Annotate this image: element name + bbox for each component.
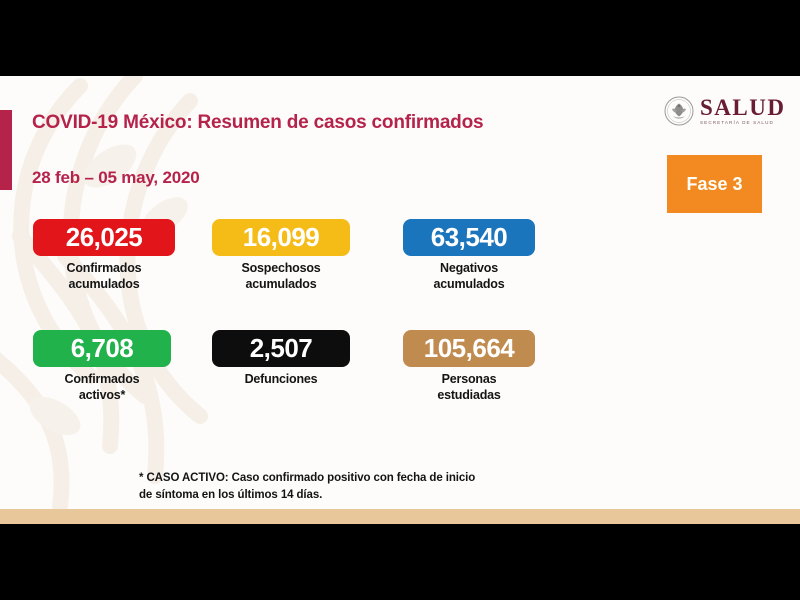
stat-label: Defunciones [212, 372, 350, 388]
stat-card-defunciones: 2,507 Defunciones [212, 330, 350, 388]
phase-badge: Fase 3 [667, 155, 762, 213]
stat-value-pill: 26,025 [33, 219, 175, 256]
stat-label-line2: estudiadas [437, 388, 500, 402]
footnote-line2: de síntoma en los últimos 14 días. [139, 489, 322, 501]
title-accent-bar [0, 110, 12, 190]
page-title: COVID-19 México: Resumen de casos confir… [32, 112, 483, 134]
stat-value-pill: 6,708 [33, 330, 171, 367]
stat-card-personas-estudiadas: 105,664 Personas estudiadas [403, 330, 535, 403]
stat-card-negativos-acumulados: 63,540 Negativos acumulados [403, 219, 535, 292]
stat-label-line1: Personas [442, 372, 497, 386]
stat-value-pill: 2,507 [212, 330, 350, 367]
date-range: 28 feb – 05 may, 2020 [32, 168, 200, 188]
stat-label: Sospechosos acumulados [212, 261, 350, 292]
stat-value-pill: 63,540 [403, 219, 535, 256]
footer-band [0, 509, 800, 524]
screenshot-root: COVID-19 México: Resumen de casos confir… [0, 0, 800, 600]
stat-label-line2: activos* [79, 388, 125, 402]
stat-label-line2: acumulados [246, 277, 317, 291]
stat-label-line2: acumulados [69, 277, 140, 291]
letterbox-bottom [0, 524, 800, 600]
stat-value-pill: 16,099 [212, 219, 350, 256]
stat-label-line2: acumulados [434, 277, 505, 291]
stat-label: Personas estudiadas [403, 372, 535, 403]
salud-logo-text: SALUD SECRETARÍA DE SALUD [700, 96, 785, 126]
salud-wordmark: SALUD [700, 96, 785, 119]
background-watermark [0, 76, 380, 524]
salud-subtitle: SECRETARÍA DE SALUD [700, 121, 785, 126]
stat-label-line1: Negativos [440, 261, 498, 275]
stat-card-confirmados-acumulados: 26,025 Confirmados acumulados [33, 219, 175, 292]
presentation-slide: COVID-19 México: Resumen de casos confir… [0, 76, 800, 524]
stat-card-sospechosos-acumulados: 16,099 Sospechosos acumulados [212, 219, 350, 292]
stat-label-line1: Sospechosos [241, 261, 320, 275]
salud-logo: SALUD SECRETARÍA DE SALUD [664, 96, 785, 126]
stat-label: Confirmados acumulados [33, 261, 175, 292]
stat-label: Negativos acumulados [403, 261, 535, 292]
stat-value-pill: 105,664 [403, 330, 535, 367]
stat-label-line1: Defunciones [245, 372, 318, 386]
footnote: * CASO ACTIVO: Caso confirmado positivo … [139, 470, 475, 503]
footnote-line1: * CASO ACTIVO: Caso confirmado positivo … [139, 472, 475, 484]
stat-label: Confirmados activos* [33, 372, 171, 403]
stat-card-confirmados-activos: 6,708 Confirmados activos* [33, 330, 171, 403]
letterbox-top [0, 0, 800, 76]
stat-label-line1: Confirmados [67, 261, 142, 275]
mexican-eagle-seal-icon [664, 96, 694, 126]
stat-label-line1: Confirmados [65, 372, 140, 386]
